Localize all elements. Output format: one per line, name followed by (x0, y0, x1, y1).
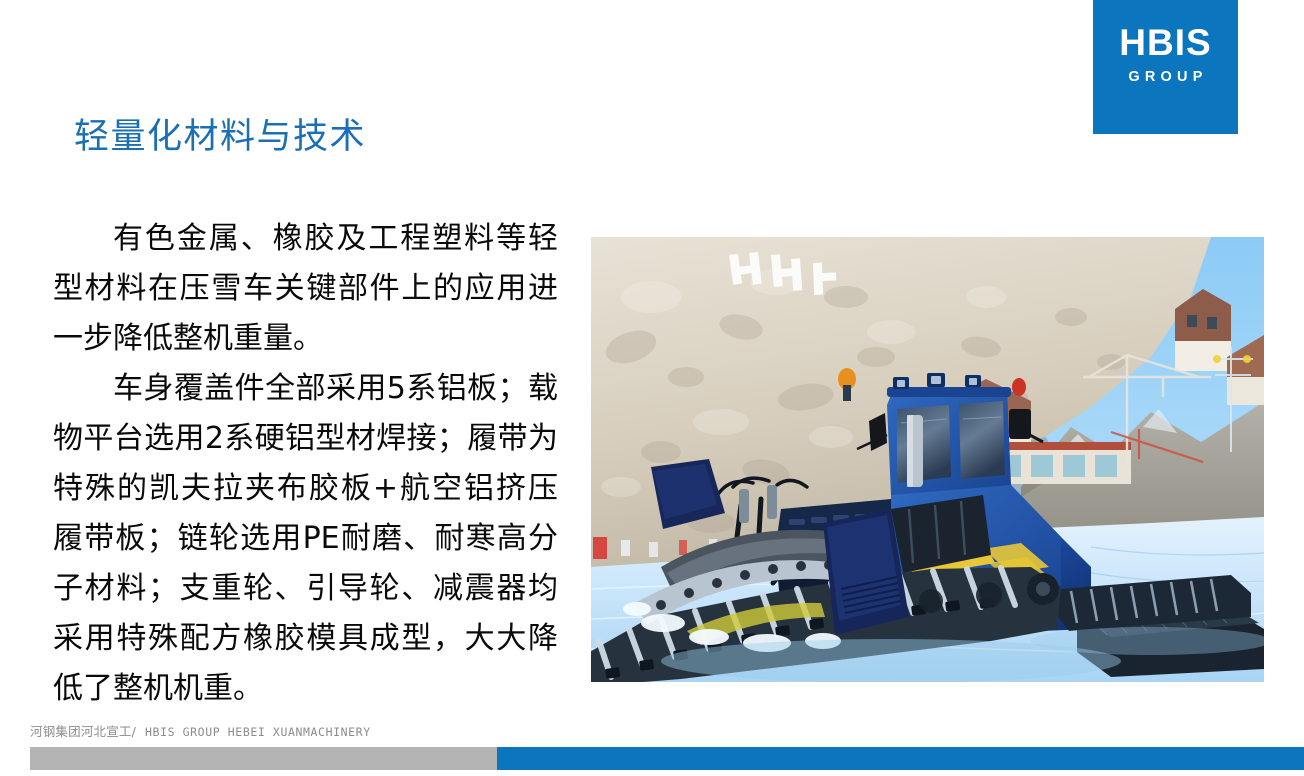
footer-credit-cn: 河钢集团河北宣工/ (30, 724, 136, 739)
footer-credit: 河钢集团河北宣工/HBIS GROUP HEBEI XUANMACHINERY (30, 721, 371, 740)
footer-credit-en: HBIS GROUP HEBEI XUANMACHINERY (145, 725, 371, 739)
bottom-bar-gray (30, 747, 497, 770)
paragraph-2: 车身覆盖件全部采用5系铝板；载物平台选用2系硬铝型材焊接；履带为特殊的凯夫拉夹布… (53, 364, 558, 714)
bottom-bar-blue (497, 747, 1304, 770)
hbis-group-logo: HBIS GROUP (1093, 0, 1238, 134)
slide-root: HBIS GROUP 轻量化材料与技术 有色金属、橡胶及工程塑料等轻型材料在压雪… (0, 0, 1304, 776)
logo-wordmark-hbis: HBIS (1119, 24, 1211, 61)
page-title: 轻量化材料与技术 (74, 113, 366, 162)
paragraph-1: 有色金属、橡胶及工程塑料等轻型材料在压雪车关键部件上的应用进一步降低整机重量。 (53, 214, 558, 364)
logo-wordmark-group: GROUP (1123, 70, 1207, 85)
photo-illustration: SG400 (591, 237, 1264, 682)
body-text-column: 有色金属、橡胶及工程塑料等轻型材料在压雪车关键部件上的应用进一步降低整机重量。 … (53, 214, 558, 714)
snow-groomer-photo: SG400 (591, 237, 1264, 682)
